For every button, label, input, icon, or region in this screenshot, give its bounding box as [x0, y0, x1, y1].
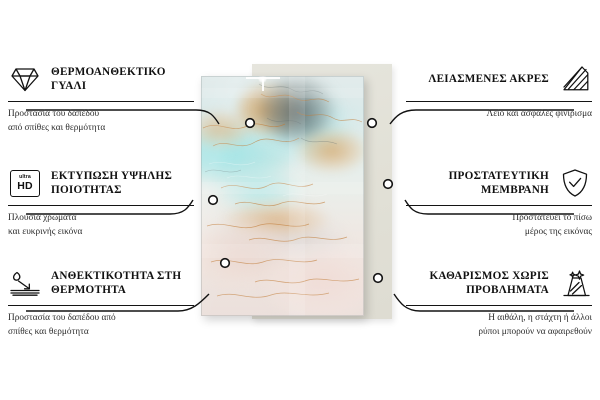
- flame-deflect-icon: [8, 267, 42, 299]
- shield-check-icon: [558, 167, 592, 199]
- sparkle-clean-icon: [558, 267, 592, 299]
- feature-description: Η αιθάλη, η στάχτη ή άλλοιρύποι μπορούν …: [406, 312, 592, 338]
- feature-polished-edges: ΛΕΙΑΣΜΕΝΕΣ ΑΚΡΕΣ Λείο και ασφαλές φινίρι…: [406, 62, 592, 122]
- ultra-hd-badge-main: HD: [17, 181, 33, 192]
- feature-title: ΚΑΘΑΡΙΣΜΟΣ ΧΩΡΙΣ ΠΡΟΒΛΗΜΑΤΑ: [406, 269, 549, 297]
- feature-high-quality-print: ultra HD ΕΚΤΥΠΩΣΗ ΥΨΗΛΗΣ ΠΟΙΟΤΗΤΑΣ Πλούσ…: [8, 166, 194, 239]
- glass-panel-product: [201, 76, 364, 316]
- feature-protective-film: ΠΡΟΣΤΑΤΕΥΤΙΚΗ ΜΕΜΒΡΑΝΗ Προστατεύει το πί…: [406, 166, 592, 239]
- feature-divider: [406, 305, 592, 306]
- feature-heading: ΚΑΘΑΡΙΣΜΟΣ ΧΩΡΙΣ ΠΡΟΒΛΗΜΑΤΑ: [406, 266, 592, 300]
- feature-heading: ΛΕΙΑΣΜΕΝΕΣ ΑΚΡΕΣ: [406, 62, 592, 96]
- feature-divider: [8, 101, 194, 102]
- feature-divider: [8, 205, 194, 206]
- ultra-hd-icon: ultra HD: [8, 167, 42, 199]
- feature-title: ΑΝΘΕΚΤΙΚΟΤΗΤΑ ΣΤΗ ΘΕΡΜΟΤΗΤΑ: [51, 269, 194, 297]
- diamond-icon: [8, 63, 42, 95]
- feature-easy-cleaning: ΚΑΘΑΡΙΣΜΟΣ ΧΩΡΙΣ ΠΡΟΒΛΗΜΑΤΑ Η αιθάλη, η …: [406, 266, 592, 339]
- feature-title: ΘΕΡΜΟΑΝΘΕΚΤΙΚΟ ΓΥΑΛΙ: [51, 65, 194, 93]
- feature-divider: [8, 305, 194, 306]
- feature-description: Προστασία του δαπέδου απόσπίθες και θερμ…: [8, 312, 194, 338]
- feature-divider: [406, 205, 592, 206]
- feature-title: ΠΡΟΣΤΑΤΕΥΤΙΚΗ ΜΕΜΒΡΑΝΗ: [406, 169, 549, 197]
- feature-title: ΕΚΤΥΠΩΣΗ ΥΨΗΛΗΣ ΠΟΙΟΤΗΤΑΣ: [51, 169, 194, 197]
- feature-divider: [406, 101, 592, 102]
- feature-description: Προστασία του δαπέδουαπό σπίθες και θερμ…: [8, 108, 194, 134]
- artwork-vein-lines: [201, 76, 364, 316]
- beveled-edge-icon: [558, 63, 592, 95]
- feature-description: Προστατεύει το πίσωμέρος της εικόνας: [406, 212, 592, 238]
- feature-heading: ultra HD ΕΚΤΥΠΩΣΗ ΥΨΗΛΗΣ ΠΟΙΟΤΗΤΑΣ: [8, 166, 194, 200]
- feature-heading: ΑΝΘΕΚΤΙΚΟΤΗΤΑ ΣΤΗ ΘΕΡΜΟΤΗΤΑ: [8, 266, 194, 300]
- feature-heat-durability: ΑΝΘΕΚΤΙΚΟΤΗΤΑ ΣΤΗ ΘΕΡΜΟΤΗΤΑ Προστασία το…: [8, 266, 194, 339]
- feature-description: Πλούσια χρώματακαι ευκρινής εικόνα: [8, 212, 194, 238]
- infographic-canvas: ΘΕΡΜΟΑΝΘΕΚΤΙΚΟ ΓΥΑΛΙ Προστασία του δαπέδ…: [0, 0, 600, 400]
- feature-heading: ΠΡΟΣΤΑΤΕΥΤΙΚΗ ΜΕΜΒΡΑΝΗ: [406, 166, 592, 200]
- feature-heading: ΘΕΡΜΟΑΝΘΕΚΤΙΚΟ ΓΥΑΛΙ: [8, 62, 194, 96]
- feature-description: Λείο και ασφαλές φινίρισμα: [406, 108, 592, 121]
- feature-title: ΛΕΙΑΣΜΕΝΕΣ ΑΚΡΕΣ: [428, 72, 549, 86]
- feature-heat-resistant-glass: ΘΕΡΜΟΑΝΘΕΚΤΙΚΟ ΓΥΑΛΙ Προστασία του δαπέδ…: [8, 62, 194, 135]
- product-image-group: [180, 56, 420, 351]
